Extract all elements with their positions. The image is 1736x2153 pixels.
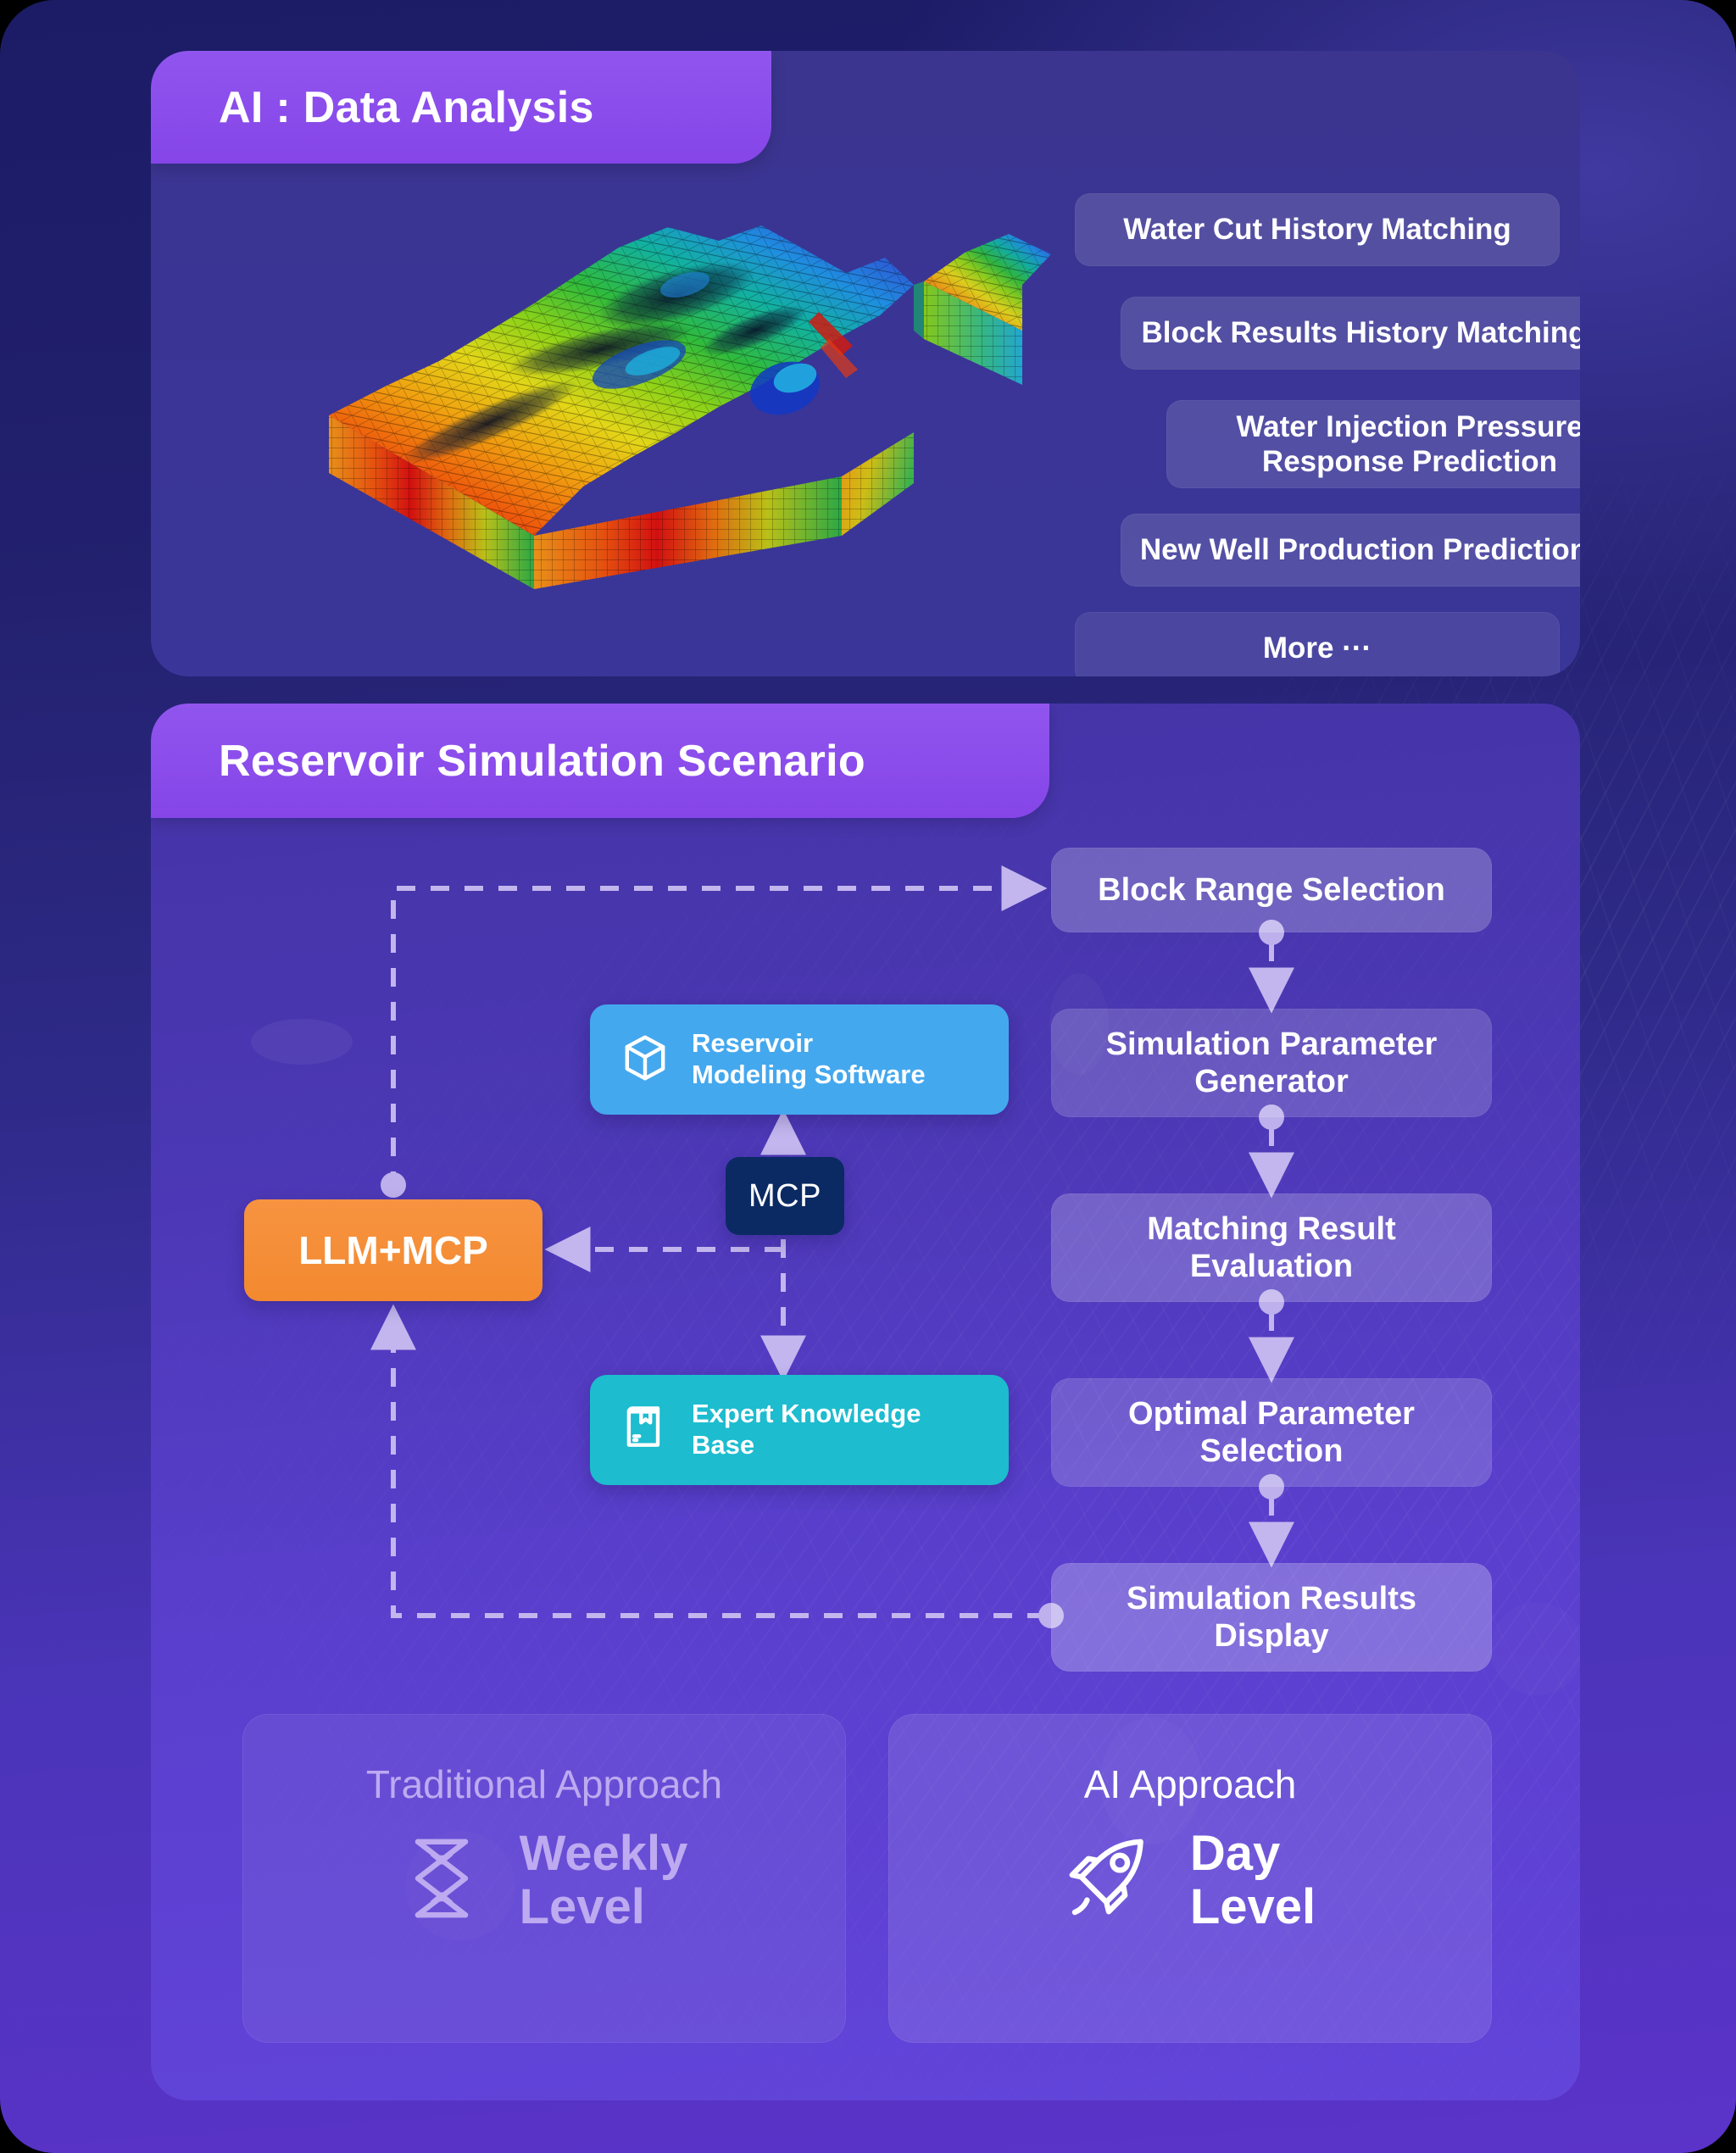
comparison-value: Day Level bbox=[1190, 1828, 1316, 1933]
rocket-icon bbox=[1065, 1832, 1153, 1929]
flow-step-parameter-generator[interactable]: Simulation Parameter Generator bbox=[1051, 1009, 1492, 1117]
node-reservoir-modeling-software[interactable]: Reservoir Modeling Software bbox=[590, 1004, 1009, 1115]
poster-frame: AI : Data Analysis bbox=[0, 0, 1736, 2153]
ai-data-analysis-title: AI : Data Analysis bbox=[151, 51, 771, 164]
comparison-card-ai: AI Approach Day Level bbox=[888, 1714, 1492, 2043]
ai-capability-list: Water Cut History Matching Block Results… bbox=[1075, 193, 1580, 676]
capability-chip[interactable]: New Well Production Prediction bbox=[1121, 514, 1580, 587]
capability-chip[interactable]: Water Injection Pressure Response Predic… bbox=[1166, 400, 1580, 488]
comparison-title: AI Approach bbox=[1084, 1761, 1297, 1807]
capability-chip[interactable]: Block Results History Matching bbox=[1121, 297, 1580, 370]
flow-step-matching-evaluation[interactable]: Matching Result Evaluation bbox=[1051, 1193, 1492, 1302]
node-label: Expert Knowledge Base bbox=[692, 1399, 921, 1460]
node-expert-knowledge-base[interactable]: Expert Knowledge Base bbox=[590, 1375, 1009, 1485]
ai-data-analysis-panel: AI : Data Analysis bbox=[151, 51, 1580, 676]
comparison-value: Weekly Level bbox=[520, 1828, 688, 1933]
reservoir-3d-model bbox=[320, 203, 1066, 627]
capability-chip-more[interactable]: More ··· bbox=[1075, 612, 1560, 676]
bokeh-dot bbox=[251, 1019, 353, 1065]
comparison-title: Traditional Approach bbox=[366, 1761, 722, 1807]
bokeh-dot bbox=[1490, 1602, 1580, 1695]
node-llm-mcp[interactable]: LLM+MCP bbox=[244, 1199, 542, 1301]
reservoir-simulation-title: Reservoir Simulation Scenario bbox=[151, 704, 1049, 818]
book-icon bbox=[619, 1402, 671, 1459]
flow-step-block-range[interactable]: Block Range Selection bbox=[1051, 848, 1492, 932]
flow-step-optimal-parameter[interactable]: Optimal Parameter Selection bbox=[1051, 1378, 1492, 1487]
cube-icon bbox=[619, 1032, 671, 1088]
node-label: Reservoir Modeling Software bbox=[692, 1028, 926, 1090]
capability-chip[interactable]: Water Cut History Matching bbox=[1075, 193, 1560, 266]
comparison-card-traditional: Traditional Approach Weekly Level bbox=[242, 1714, 846, 2043]
node-mcp[interactable]: MCP bbox=[726, 1157, 844, 1235]
hourglass-icon bbox=[401, 1832, 482, 1929]
flow-step-results-display[interactable]: Simulation Results Display bbox=[1051, 1563, 1492, 1672]
